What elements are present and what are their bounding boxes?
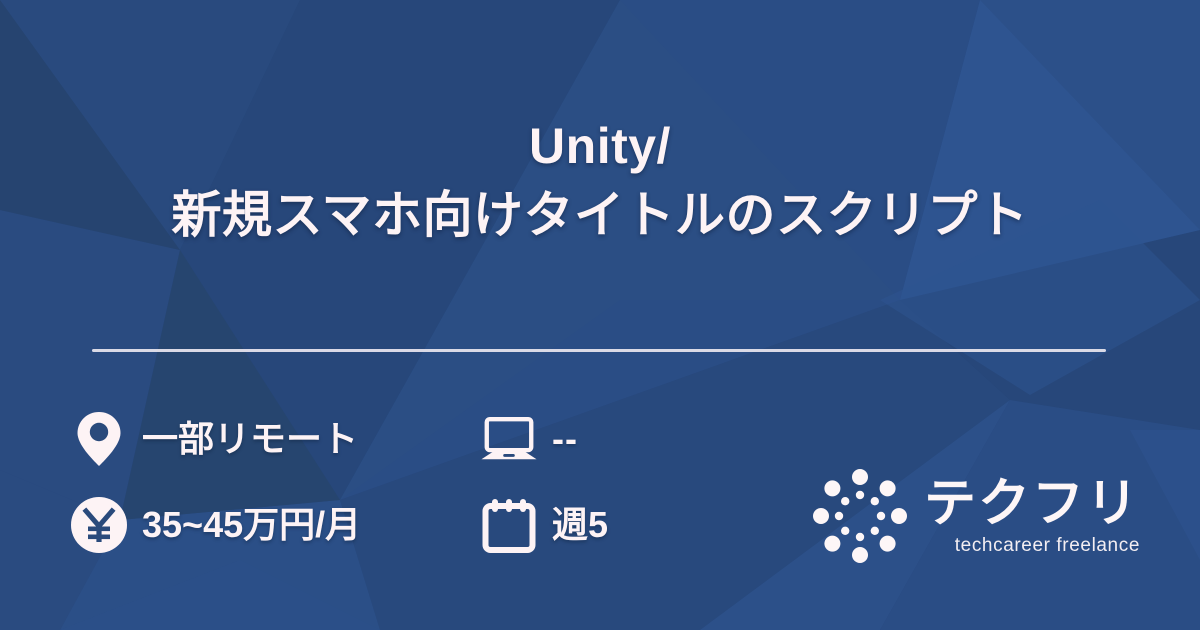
job-title-line-1: Unity/ bbox=[70, 112, 1130, 181]
meta-value-equipment: -- bbox=[552, 421, 578, 457]
logo-tagline: techcareer freelance bbox=[955, 536, 1140, 555]
job-meta-list: 一部リモート -- bbox=[70, 396, 770, 568]
meta-item-work-style: 一部リモート bbox=[70, 410, 480, 468]
divider bbox=[92, 349, 1106, 352]
brand-logo: テクフリ techcareer freelance bbox=[808, 464, 1140, 568]
meta-value-work-style: 一部リモート bbox=[142, 421, 358, 457]
job-title: Unity/ 新規スマホ向けタイトルのスクリプト bbox=[0, 112, 1200, 250]
meta-item-workdays: 週5 bbox=[480, 496, 760, 554]
meta-value-salary: 35~45万円/月 bbox=[142, 507, 361, 543]
meta-item-equipment: -- bbox=[480, 410, 760, 468]
meta-value-workdays: 週5 bbox=[552, 507, 608, 543]
meta-item-salary: 35~45万円/月 bbox=[70, 496, 480, 554]
job-ogp-card: Unity/ 新規スマホ向けタイトルのスクリプト 一部リモート bbox=[0, 0, 1200, 630]
location-pin-icon bbox=[70, 410, 128, 468]
yen-circle-icon bbox=[70, 496, 128, 554]
job-title-line-2: 新規スマホ向けタイトルのスクリプト bbox=[70, 181, 1130, 250]
logo-name: テクフリ bbox=[924, 477, 1140, 532]
laptop-icon bbox=[480, 410, 538, 468]
job-meta-row: 一部リモート -- bbox=[70, 396, 770, 482]
dot-ring-icon bbox=[808, 464, 912, 568]
calendar-icon bbox=[480, 496, 538, 554]
job-meta-row: 35~45万円/月 週5 bbox=[70, 482, 770, 568]
